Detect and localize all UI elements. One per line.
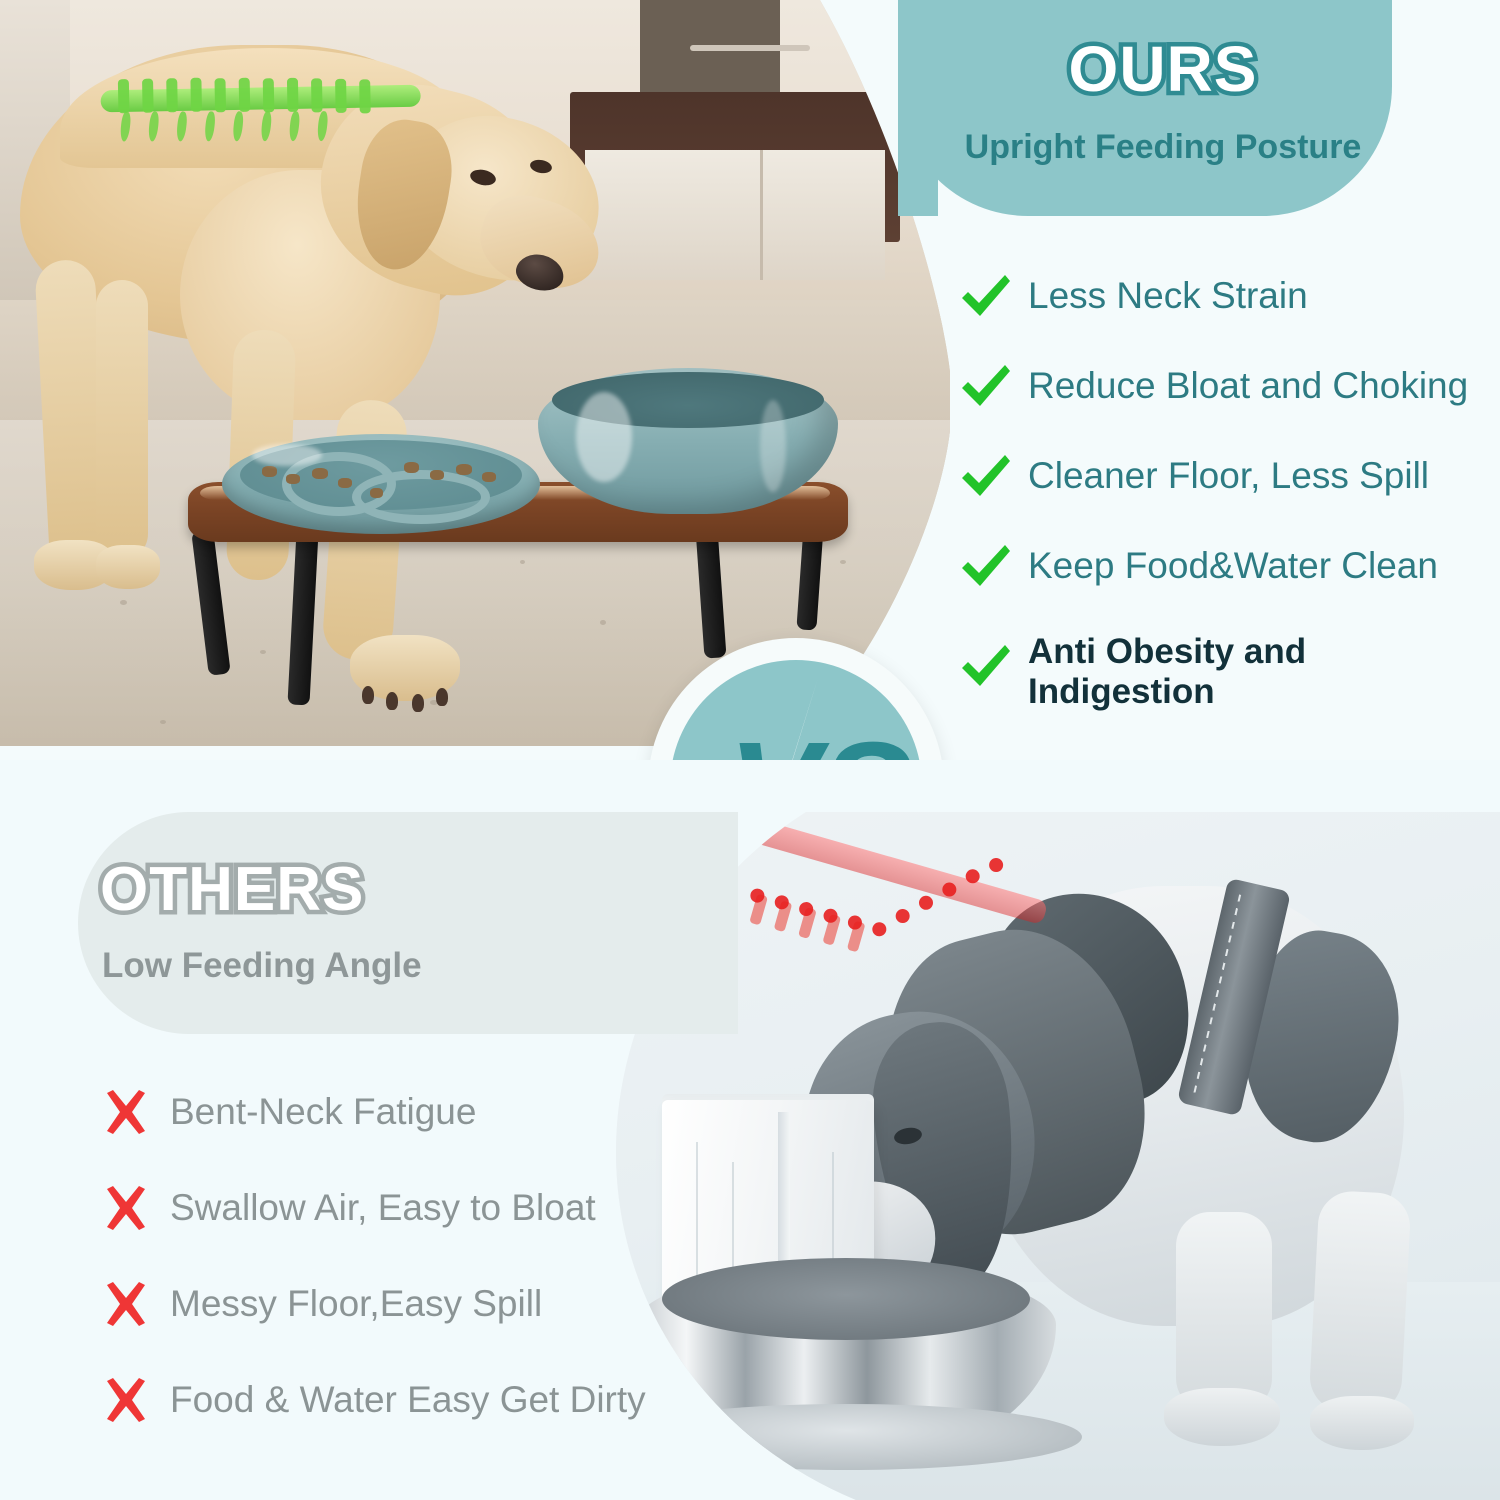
benefit-label: Reduce Bloat and Choking (1028, 366, 1468, 406)
drawback-item: Food & Water Easy Get Dirty (100, 1378, 720, 1422)
benefit-item: Reduce Bloat and Choking (958, 362, 1498, 410)
check-icon (958, 362, 1014, 410)
photo-cabinet-panel (585, 150, 885, 280)
drawback-label: Messy Floor,Easy Spill (170, 1283, 542, 1325)
photo-cabinet-handle (690, 45, 810, 51)
check-icon (958, 272, 1014, 320)
beagle-paw (1164, 1388, 1280, 1446)
spine-overlay-strained-icon (690, 838, 1077, 1008)
beagle-paw (1310, 1396, 1414, 1450)
benefit-item: Cleaner Floor, Less Spill (958, 452, 1498, 500)
benefit-label: Less Neck Strain (1028, 276, 1308, 316)
benefit-item: Keep Food&Water Clean (958, 542, 1498, 590)
benefit-label: Cleaner Floor, Less Spill (1028, 456, 1429, 496)
check-icon (958, 452, 1014, 500)
beagle-leg (1176, 1212, 1272, 1412)
labrador-leg (96, 280, 148, 560)
photo-cabinet-seam (760, 150, 763, 280)
drawback-label: Food & Water Easy Get Dirty (170, 1379, 646, 1421)
labrador-paw (96, 545, 160, 589)
infographic-canvas: OURS Upright Feeding Posture Less Neck S… (0, 0, 1500, 1500)
benefit-label: Anti Obesity and Indigestion (1028, 632, 1408, 713)
check-icon (958, 642, 1014, 690)
photo-elevated-feeder-with-labrador (0, 0, 950, 746)
cross-icon (100, 1282, 152, 1326)
benefit-item: Anti Obesity and Indigestion (958, 632, 1498, 713)
drawback-item: Bent-Neck Fatigue (100, 1090, 720, 1134)
others-drawbacks-list: Bent-Neck Fatigue Swallow Air, Easy to B… (100, 1090, 720, 1474)
drawback-label: Swallow Air, Easy to Bloat (170, 1187, 596, 1229)
drawback-item: Messy Floor,Easy Spill (100, 1282, 720, 1326)
cross-icon (100, 1090, 152, 1134)
beagle-leg (1308, 1190, 1411, 1415)
others-title: OTHERS (100, 854, 520, 925)
others-subtitle: Low Feeding Angle (102, 946, 422, 986)
benefit-label: Keep Food&Water Clean (1028, 546, 1438, 586)
cross-icon (100, 1186, 152, 1230)
ours-title: OURS (928, 32, 1398, 106)
ours-benefits-list: Less Neck Strain Reduce Bloat and Chokin… (958, 272, 1498, 713)
cross-icon (100, 1378, 152, 1422)
drawback-item: Swallow Air, Easy to Bloat (100, 1186, 720, 1230)
check-icon (958, 542, 1014, 590)
benefit-item: Less Neck Strain (958, 272, 1498, 320)
ours-subtitle: Upright Feeding Posture (928, 128, 1398, 167)
drawback-label: Bent-Neck Fatigue (170, 1091, 476, 1133)
